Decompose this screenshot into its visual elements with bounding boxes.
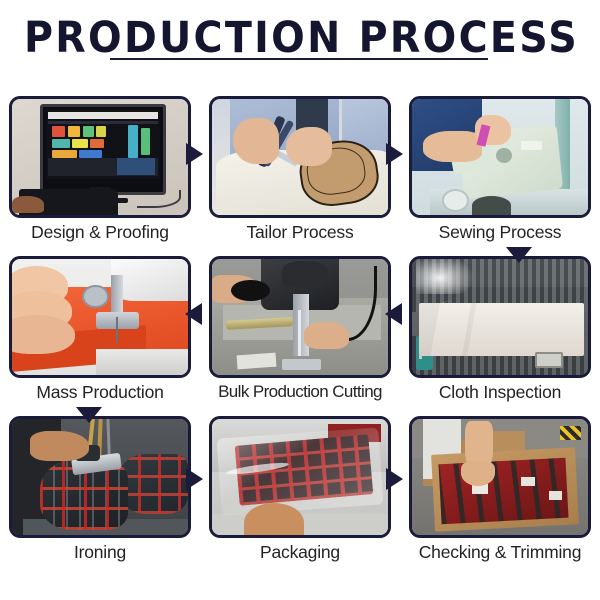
step-label-mass-production: Mass Production [0,382,200,403]
page-title: PRODUCTION PROCESS [24,14,576,62]
photo-mass-production [12,259,188,375]
photo-packaging [212,419,388,535]
arrow-ironing-to-packaging [186,468,203,490]
step-card-tailor-process[interactable]: Tailor Process [200,90,400,260]
photo-frame-cloth-inspection [409,256,591,378]
photo-sewing-process [412,99,588,215]
photo-frame-checking-trimming [409,416,591,538]
step-card-packaging[interactable]: Packaging [200,410,400,600]
arrow-cloth-inspection-to-bulk-cutting [385,303,402,325]
photo-frame-tailor-process [209,96,391,218]
photo-cloth-inspection [412,259,588,375]
photo-frame-sewing-process [409,96,591,218]
step-label-tailor-process: Tailor Process [200,222,400,243]
step-card-ironing[interactable]: Ironing [0,410,200,600]
photo-frame-packaging [209,416,391,538]
process-grid: Design & Proofing Tailor Process [0,90,600,600]
step-label-checking-trimming: Checking & Trimming [400,542,600,563]
arrow-design-to-tailor [186,143,203,165]
step-card-mass-production[interactable]: Mass Production [0,250,200,420]
photo-frame-ironing [9,416,191,538]
step-card-sewing-process[interactable]: Sewing Process [400,90,600,260]
arrow-sewing-to-cloth-inspection [506,247,532,263]
arrow-mass-production-to-ironing [76,407,102,423]
step-label-packaging: Packaging [200,542,400,563]
title-divider [110,58,488,60]
arrow-packaging-to-checking [386,468,403,490]
photo-tailor-process [212,99,388,215]
step-label-bulk-production-cutting: Bulk Production Cutting [200,382,400,402]
step-card-design-proofing[interactable]: Design & Proofing [0,90,200,260]
photo-bulk-production-cutting [212,259,388,375]
photo-design-proofing [12,99,188,215]
step-card-bulk-production-cutting[interactable]: Bulk Production Cutting [200,250,400,420]
page-title-block: PRODUCTION PROCESS [0,14,600,62]
photo-frame-mass-production [9,256,191,378]
photo-ironing [12,419,188,535]
step-label-design-proofing: Design & Proofing [0,222,200,243]
photo-checking-trimming [412,419,588,535]
step-label-sewing-process: Sewing Process [400,222,600,243]
photo-frame-bulk-production-cutting [209,256,391,378]
step-card-checking-trimming[interactable]: Checking & Trimming [400,410,600,600]
step-label-ironing: Ironing [0,542,200,563]
photo-frame-design-proofing [9,96,191,218]
production-process-infographic: PRODUCTION PROCESS [0,0,600,600]
arrow-tailor-to-sewing [386,143,403,165]
step-card-cloth-inspection[interactable]: Cloth Inspection [400,250,600,420]
step-label-cloth-inspection: Cloth Inspection [400,382,600,403]
arrow-bulk-cutting-to-mass-production [185,303,202,325]
